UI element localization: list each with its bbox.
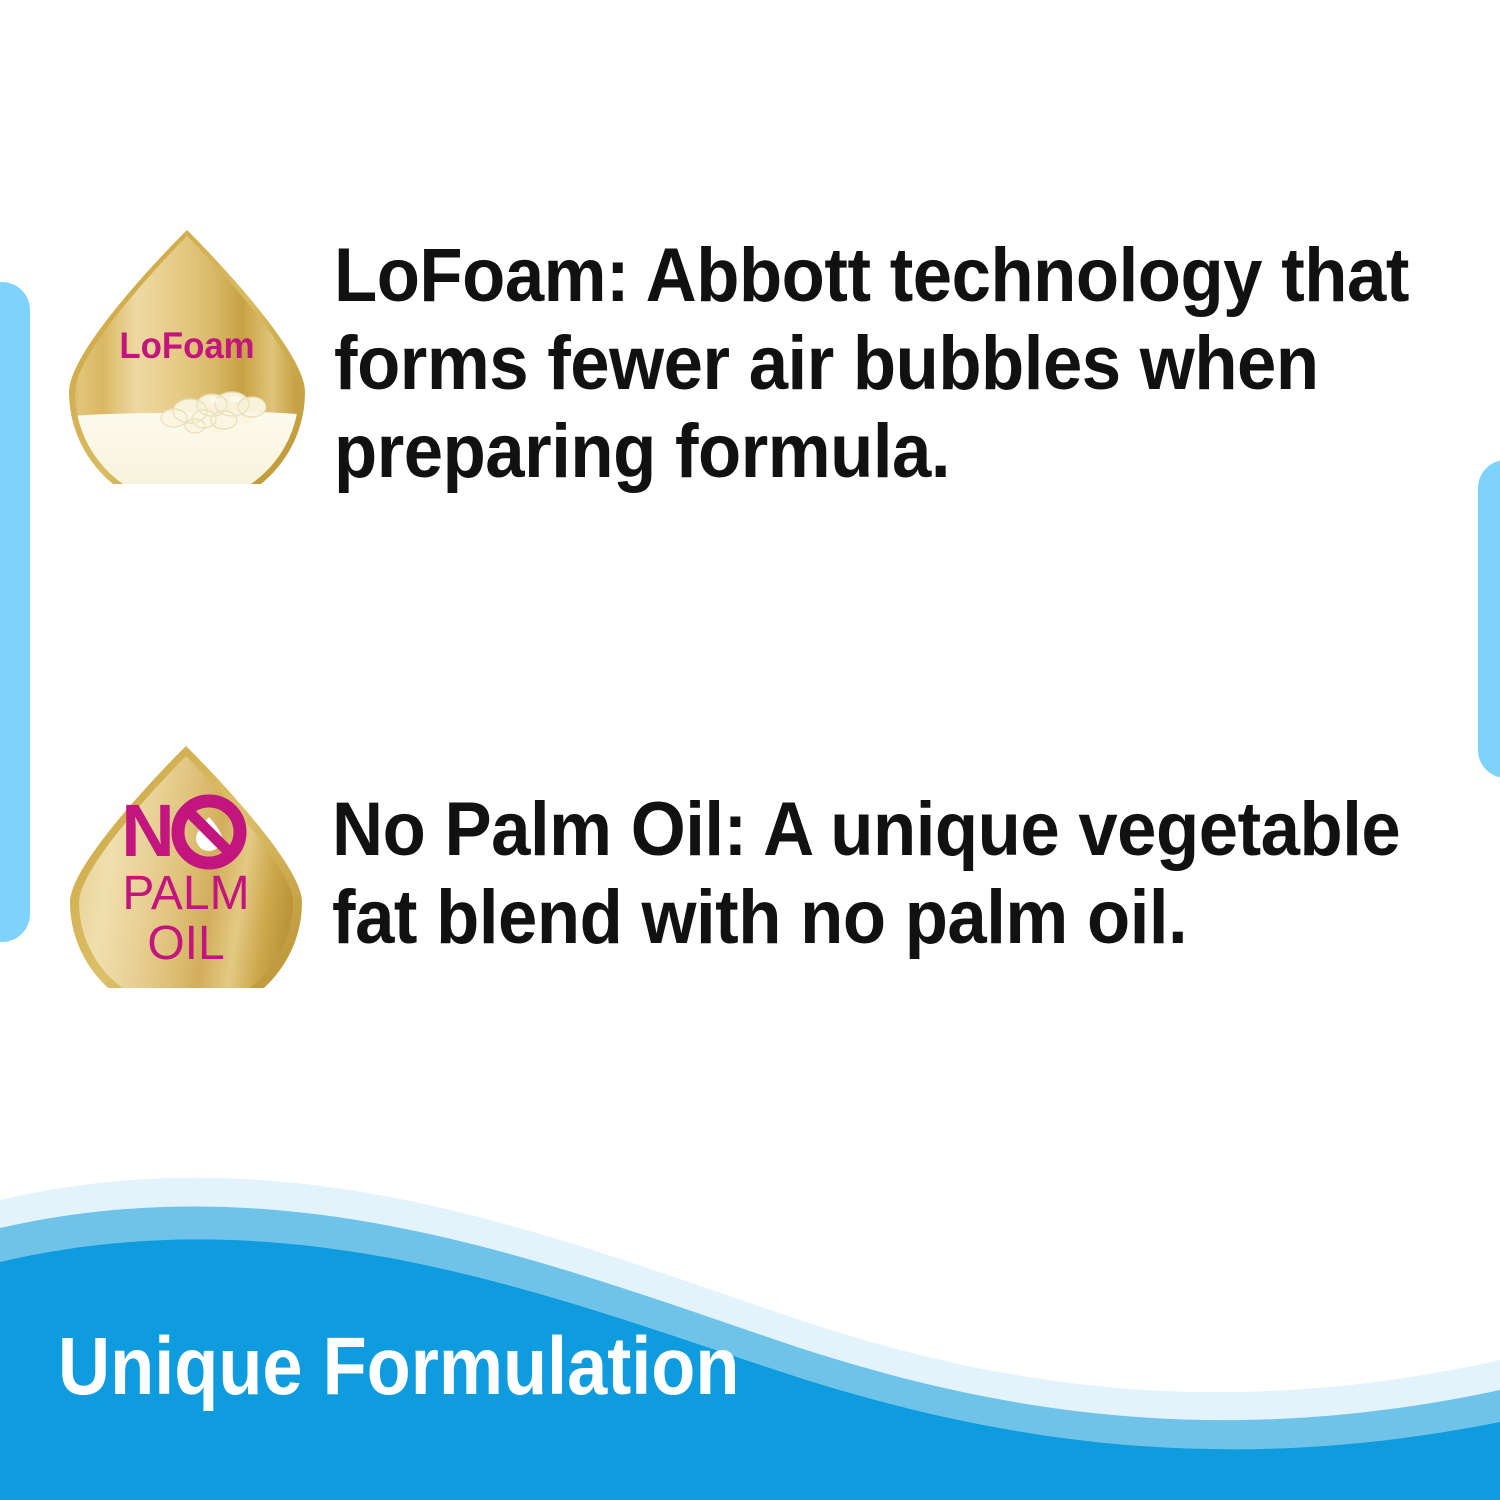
left-accent-bar [0,282,30,942]
no-palm-oil-badge-sub-oil: OIL [147,917,224,970]
feature-item-lofoam: LoFoam LoFoam: Abbott technology that fo… [62,222,1500,496]
no-palm-oil-badge-label: N [121,789,174,872]
lofoam-badge: LoFoam [62,222,312,484]
feature-text-lofoam: LoFoam: Abbott technology that forms few… [334,232,1431,496]
feature-text-no-palm-oil: No Palm Oil: A unique vegetable fat blen… [332,786,1476,962]
no-palm-oil-badge: N PALM OIL [62,738,310,988]
slide-canvas: LoFoam LoFoam: Abbott technology that fo… [0,0,1500,1500]
lofoam-badge-label: LoFoam [119,325,254,366]
right-accent-bar [1478,460,1500,778]
feature-item-no-palm-oil: N PALM OIL No Palm Oil: A unique vegetab… [62,738,1500,988]
no-palm-oil-badge-sub-palm: PALM [122,867,249,920]
lofoam-badge-icon: LoFoam [62,222,312,484]
banner-title: Unique Formulation [58,1326,739,1408]
no-palm-oil-badge-icon: N PALM OIL [62,738,310,988]
